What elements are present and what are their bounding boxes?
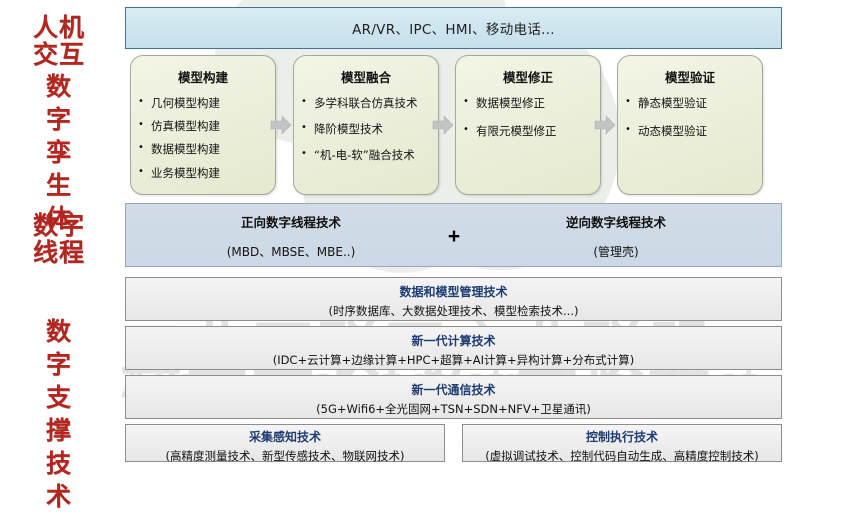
rail-label-line: 交互: [0, 41, 118, 68]
reverse-thread-subtitle: (管理壳): [471, 243, 761, 260]
card-list-item: 多学科联合仿真技术: [294, 97, 438, 110]
card-title: 模型验证: [618, 67, 762, 86]
card-list-item: 业务模型构建: [131, 167, 275, 180]
card-title: 模型修正: [456, 67, 600, 86]
card-list-item: 静态模型验证: [618, 97, 762, 110]
support-row-next-gen-communication[interactable]: 新一代通信技术 (5G+Wifi6+全光固网+TSN+SDN+NFV+卫星通讯): [125, 375, 782, 419]
rail-label-human-machine-interaction: 人机 交互: [0, 14, 118, 68]
card-list-item: 数据模型构建: [131, 143, 275, 156]
card-list-item: 有限元模型修正: [456, 125, 600, 138]
card-model-verification[interactable]: 模型验证 静态模型验证 动态模型验证: [617, 55, 763, 195]
rail-label-digital-thread: 数字 线程: [0, 212, 118, 266]
human-machine-interaction-banner: AR/VR、IPC、HMI、移动电话...: [125, 7, 782, 49]
rail-label-char: 数: [0, 315, 118, 348]
card-list-item: 降阶模型技术: [294, 123, 438, 136]
support-row-next-gen-computing[interactable]: 新一代计算技术 (IDC+云计算+边缘计算+HPC+超算+AI计算+异构计算+分…: [125, 326, 782, 370]
card-list-item: 几何模型构建: [131, 97, 275, 110]
rail-label-char: 字: [0, 348, 118, 381]
card-list-item: 仿真模型构建: [131, 120, 275, 133]
support-row-sensing-acquisition[interactable]: 采集感知技术 (高精度测量技术、新型传感技术、物联网技术): [125, 424, 445, 462]
rail-label-digital-support-tech: 数 字 支 撑 技 术: [0, 315, 118, 513]
support-row-title: 数据和模型管理技术: [126, 283, 781, 300]
support-row-subtitle: (IDC+云计算+边缘计算+HPC+超算+AI计算+异构计算+分布式计算): [126, 352, 781, 368]
rail-label-line: 线程: [0, 239, 118, 266]
rail-label-char: 术: [0, 480, 118, 513]
rail-label-char: 撑: [0, 414, 118, 447]
layer-label-rail: 人机 交互 数 字 孪 生 体 数字 线程 数 字 支 撑 技 术: [0, 0, 118, 463]
rail-label-char: 孪: [0, 136, 118, 169]
card-item-list: 数据模型修正 有限元模型修正: [456, 97, 600, 138]
support-row-control-execution[interactable]: 控制执行技术 (虚拟调试技术、控制代码自动生成、高精度控制技术): [462, 424, 782, 462]
reverse-thread-title: 逆向数字线程技术: [471, 212, 761, 231]
right-arrow-icon: [432, 114, 454, 136]
support-row-subtitle: (5G+Wifi6+全光固网+TSN+SDN+NFV+卫星通讯): [126, 401, 781, 417]
rail-label-char: 字: [0, 103, 118, 136]
rail-label-char: 数: [0, 70, 118, 103]
plus-icon: +: [442, 226, 466, 247]
reverse-digital-thread-block: 逆向数字线程技术 (管理壳): [471, 212, 761, 260]
support-row-title: 新一代通信技术: [126, 381, 781, 398]
card-title: 模型融合: [294, 67, 438, 86]
card-title: 模型构建: [131, 67, 275, 86]
card-item-list: 几何模型构建 仿真模型构建 数据模型构建 业务模型构建: [131, 97, 275, 180]
diagram-stage: AR/VR、IPC、HMI、移动电话... 正向数字线程技术 (MBD、MBSE…: [118, 0, 841, 463]
rail-label-line: 人机: [0, 14, 118, 41]
rail-label-char: 技: [0, 447, 118, 480]
rail-label-char: 支: [0, 381, 118, 414]
right-arrow-icon: [270, 114, 292, 136]
support-row-title: 控制执行技术: [463, 428, 781, 445]
digital-thread-band: 正向数字线程技术 (MBD、MBSE、MBE..) + 逆向数字线程技术 (管理…: [125, 203, 782, 267]
support-row-title: 新一代计算技术: [126, 332, 781, 349]
card-item-list: 静态模型验证 动态模型验证: [618, 97, 762, 138]
forward-thread-subtitle: (MBD、MBSE、MBE..): [146, 243, 436, 260]
card-item-list: 多学科联合仿真技术 降阶模型技术 “机-电-软”融合技术: [294, 97, 438, 163]
card-model-fusion[interactable]: 模型融合 多学科联合仿真技术 降阶模型技术 “机-电-软”融合技术: [293, 55, 439, 195]
card-model-correction[interactable]: 模型修正 数据模型修正 有限元模型修正: [455, 55, 601, 195]
card-model-construction[interactable]: 模型构建 几何模型构建 仿真模型构建 数据模型构建 业务模型构建: [130, 55, 276, 195]
support-row-subtitle: (高精度测量技术、新型传感技术、物联网技术): [126, 448, 444, 464]
support-row-title: 采集感知技术: [126, 428, 444, 445]
support-row-subtitle: (时序数据库、大数据处理技术、模型检索技术...): [126, 303, 781, 319]
support-row-data-model-management[interactable]: 数据和模型管理技术 (时序数据库、大数据处理技术、模型检索技术...): [125, 277, 782, 321]
rail-label-char: 生: [0, 169, 118, 202]
forward-thread-title: 正向数字线程技术: [146, 212, 436, 231]
rail-label-line: 数字: [0, 212, 118, 239]
card-list-item: 数据模型修正: [456, 97, 600, 110]
card-list-item: 动态模型验证: [618, 125, 762, 138]
support-row-subtitle: (虚拟调试技术、控制代码自动生成、高精度控制技术): [463, 448, 781, 464]
card-list-item: “机-电-软”融合技术: [294, 149, 438, 162]
forward-digital-thread-block: 正向数字线程技术 (MBD、MBSE、MBE..): [146, 212, 436, 260]
banner-text: AR/VR、IPC、HMI、移动电话...: [352, 18, 555, 38]
right-arrow-icon: [594, 114, 616, 136]
